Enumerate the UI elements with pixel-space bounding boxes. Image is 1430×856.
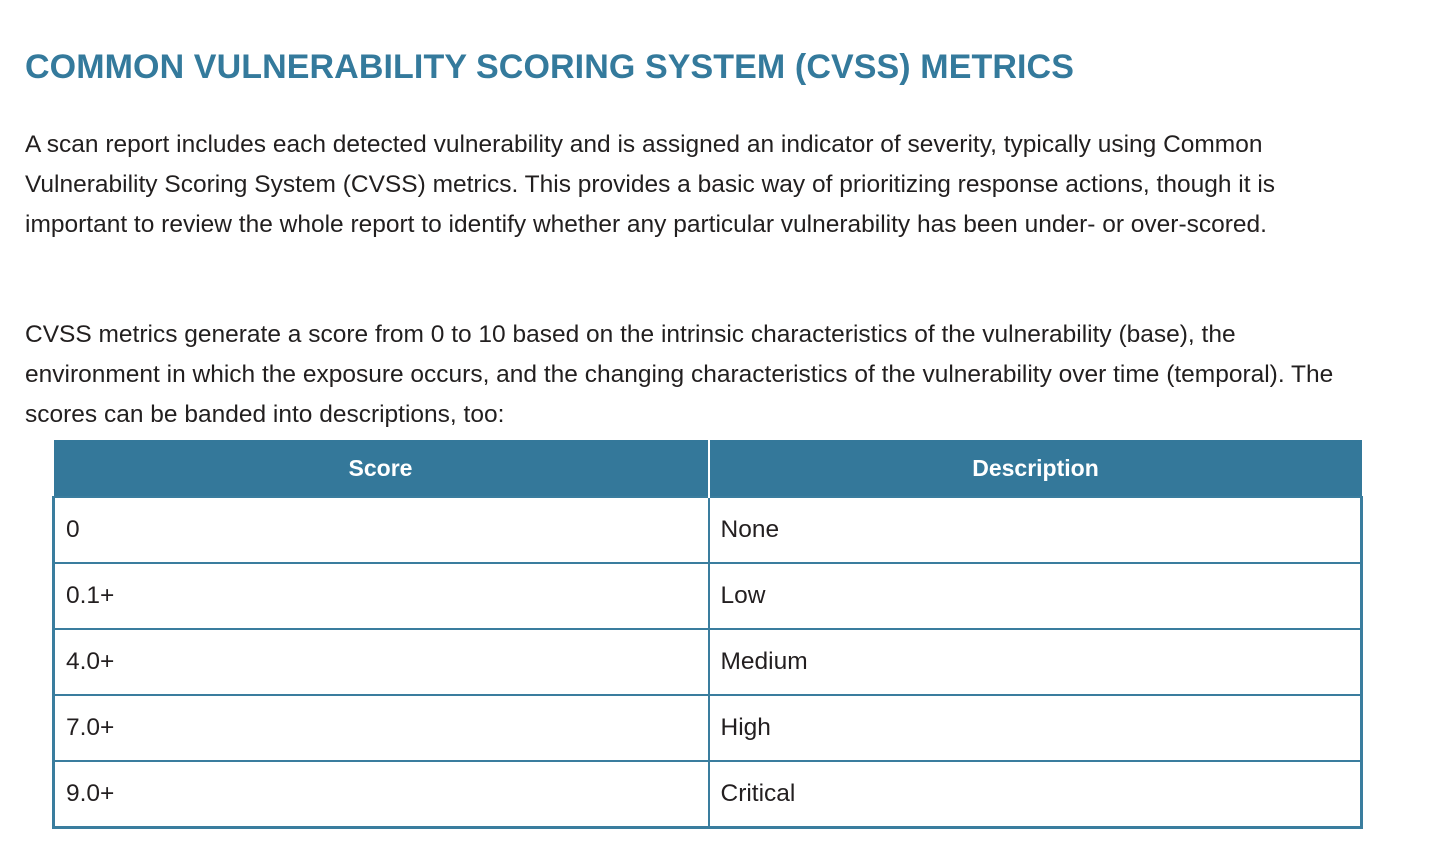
table-row: 4.0+ Medium [54,629,1362,695]
cell-description: Medium [709,629,1362,695]
table-row: 9.0+ Critical [54,761,1362,827]
intro-paragraph: A scan report includes each detected vul… [25,125,1345,245]
cell-score: 7.0+ [54,695,709,761]
cvss-score-table: Score Description 0 None 0.1+ Low 4.0+ M… [52,440,1363,829]
table-row: 7.0+ High [54,695,1362,761]
table-header: Score Description [54,440,1362,497]
column-header-description: Description [709,440,1362,497]
table-header-row: Score Description [54,440,1362,497]
table-row: 0 None [54,497,1362,563]
scoring-paragraph: CVSS metrics generate a score from 0 to … [25,315,1345,435]
table-row: 0.1+ Low [54,563,1362,629]
page-title: COMMON VULNERABILITY SCORING SYSTEM (CVS… [25,45,1074,89]
cell-description: High [709,695,1362,761]
cell-score: 0.1+ [54,563,709,629]
cell-score: 9.0+ [54,761,709,827]
table-body: 0 None 0.1+ Low 4.0+ Medium 7.0+ High 9.… [54,497,1362,827]
cell-description: Critical [709,761,1362,827]
cell-description: Low [709,563,1362,629]
cell-description: None [709,497,1362,563]
cell-score: 4.0+ [54,629,709,695]
cell-score: 0 [54,497,709,563]
column-header-score: Score [54,440,709,497]
document-page: COMMON VULNERABILITY SCORING SYSTEM (CVS… [0,0,1430,856]
